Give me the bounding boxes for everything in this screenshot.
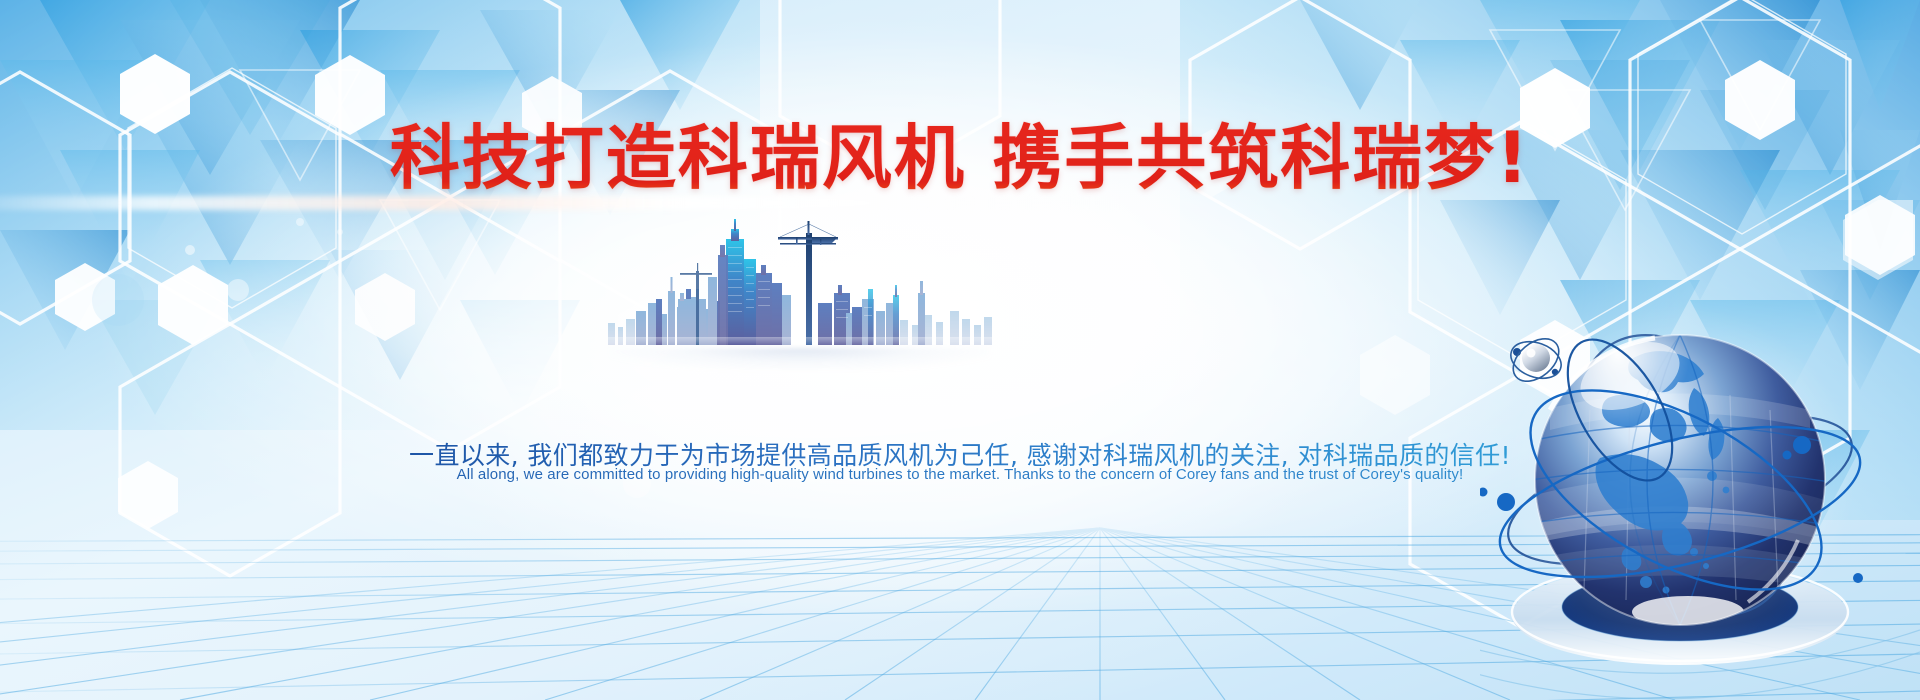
page-title: 科技打造科瑞风机 携手共筑科瑞梦! [0,117,1920,200]
glass-globe-illustration [1480,290,1920,700]
promotional-banner: 科技打造科瑞风机 携手共筑科瑞梦! [0,0,1920,700]
skyline-reflection [610,348,990,370]
city-skyline-illustration [600,215,1000,355]
